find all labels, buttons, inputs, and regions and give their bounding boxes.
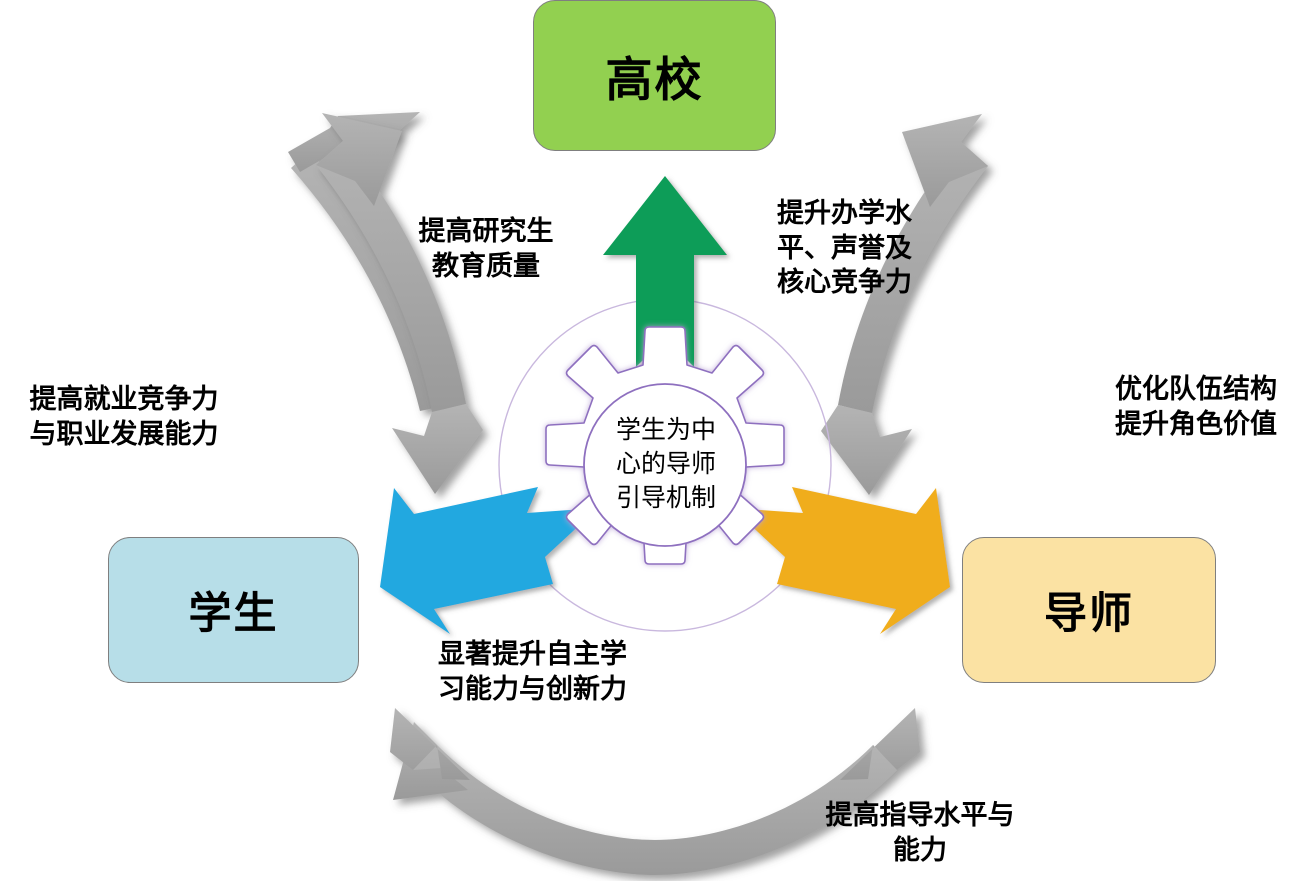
node-mentor[interactable]: 导师 xyxy=(962,537,1216,683)
center-arrow-student xyxy=(380,487,598,634)
gear-shape xyxy=(546,327,784,564)
edge-arrow-left xyxy=(316,113,483,494)
edge-label-bottom-left: 显著提升自主学 习能力与创新力 xyxy=(410,637,655,706)
edge-label-bottom-right: 提高指导水平与 能力 xyxy=(800,798,1040,867)
edge-label-left: 提高就业竞争力 与职业发展能力 xyxy=(8,382,240,451)
node-student[interactable]: 学生 xyxy=(108,537,359,683)
diagram-canvas: 高校 学生 导师 学生为中 心的导师 引导机制 提高研究生 教育质量 提升办学水… xyxy=(0,0,1299,881)
edge-arrow-right xyxy=(821,114,988,495)
gear-hub-circle xyxy=(584,384,746,546)
edge-label-top-right: 提升办学水 平、声誉及 核心竞争力 xyxy=(762,196,927,300)
edge-label-right: 优化队伍结构 提升角色价值 xyxy=(1096,372,1296,441)
center-arrow-mentor xyxy=(732,487,950,634)
node-university[interactable]: 高校 xyxy=(533,0,776,151)
edge-label-top-left: 提高研究生 教育质量 xyxy=(391,214,581,283)
